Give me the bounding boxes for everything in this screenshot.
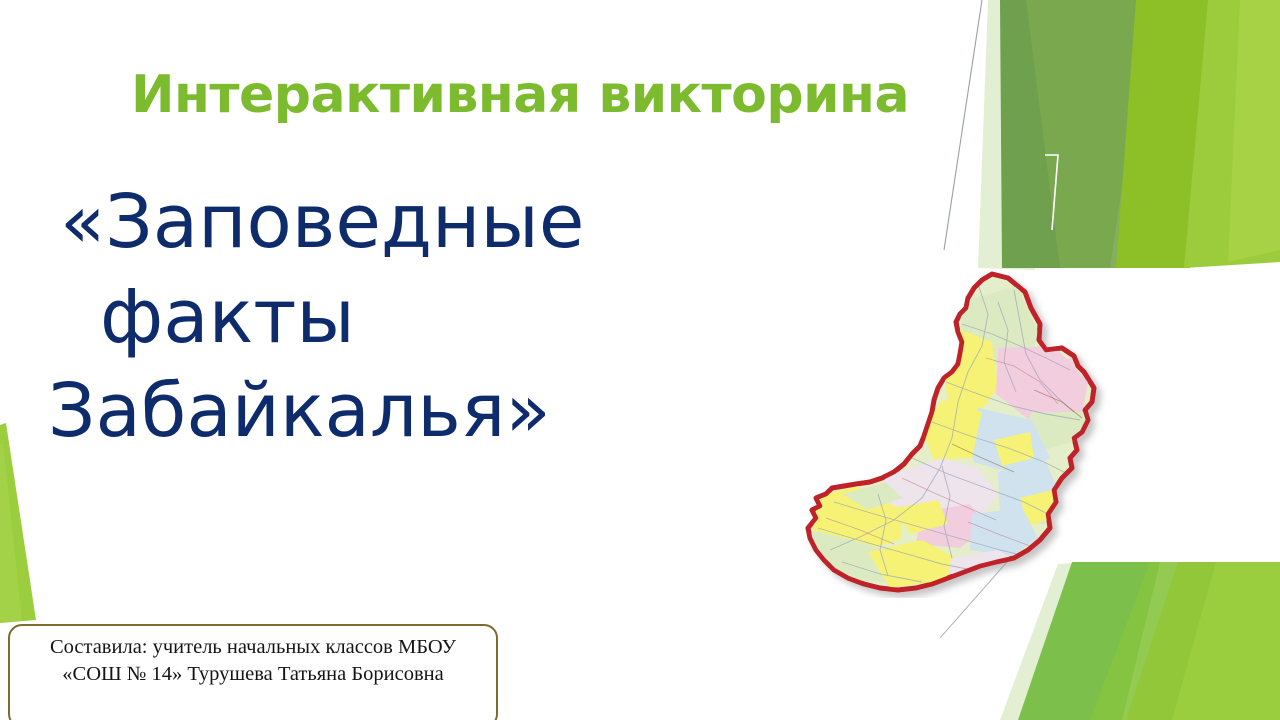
page-title-line-2: факты <box>48 270 688 365</box>
presentation-slide: Интерактивная викторина «Заповедные факт… <box>0 0 1280 720</box>
author-caption-text: Составила: учитель начальных классов МБО… <box>24 634 482 689</box>
page-title-line-3: Забайкалья» <box>48 364 688 459</box>
zabaykalsky-krai-map-image <box>782 262 1112 598</box>
author-caption-box: Составила: учитель начальных классов МБО… <box>8 624 498 720</box>
decorative-shape-top-right <box>940 0 1280 300</box>
page-title-line-1: «Заповедные <box>48 175 688 270</box>
slide-kicker-heading: Интерактивная викторина <box>0 68 1040 123</box>
page-title: «Заповедные факты Забайкалья» <box>48 175 688 459</box>
